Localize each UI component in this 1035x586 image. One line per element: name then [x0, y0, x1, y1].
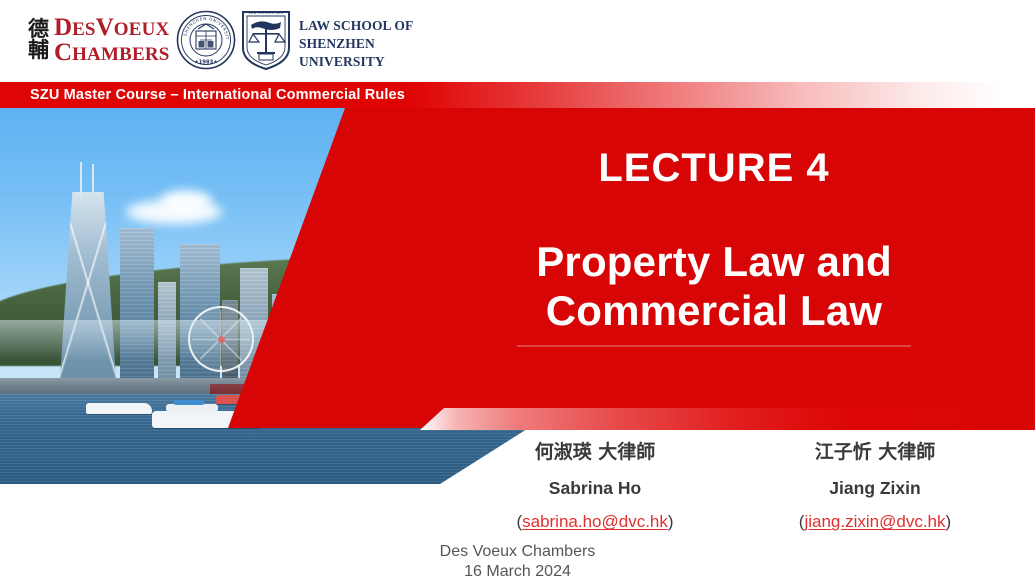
footer-organization: Des Voeux Chambers	[0, 542, 1035, 562]
title-underline	[517, 345, 911, 347]
dvc-wordmark-line1: DESVOEUX	[54, 15, 170, 40]
law-school-shield-icon: LAW SCHOOL SZU	[240, 8, 292, 72]
dvc-chinese-top: 德	[28, 19, 49, 40]
lecture-number: LECTURE 4	[430, 146, 998, 190]
presenter-2-email-link[interactable]: jiang.zixin@dvc.hk	[804, 512, 945, 531]
presenter-1: 何淑瑛 大律師 Sabrina Ho (sabrina.ho@dvc.hk)	[455, 440, 735, 533]
presenter-2-name-chinese: 江子忻 大律師	[735, 440, 1015, 466]
dvc-chinese-bottom: 輔	[28, 40, 49, 61]
paren-close: )	[946, 512, 952, 531]
red-gradient-bar	[420, 408, 1035, 430]
title-block: LECTURE 4 Property Law and Commercial La…	[430, 146, 998, 347]
law-school-line2: SHENZHEN	[299, 35, 413, 53]
tower-mast	[92, 164, 94, 194]
footer-date: 16 March 2024	[0, 562, 1035, 582]
lecture-title: Property Law and Commercial Law	[430, 238, 998, 335]
presenter-2-name-english: Jiang Zixin	[735, 477, 1015, 500]
presenter-2: 江子忻 大律師 Jiang Zixin (jiang.zixin@dvc.hk)	[735, 440, 1015, 533]
presenter-2-email-wrapper: (jiang.zixin@dvc.hk)	[735, 511, 1015, 533]
presentation-slide: 德 輔 DESVOEUX CHAMBERS ★1983★	[0, 0, 1035, 586]
svg-text:LAW SCHOOL SZU: LAW SCHOOL SZU	[249, 11, 284, 15]
law-school-name-label: LAW SCHOOL OF SHENZHEN UNIVERSITY	[299, 17, 413, 70]
presenter-1-name-chinese: 何淑瑛 大律師	[455, 440, 735, 466]
cloud	[160, 190, 212, 212]
course-banner: SZU Master Course – International Commer…	[0, 82, 1035, 108]
course-banner-label: SZU Master Course – International Commer…	[30, 87, 405, 103]
hero-area: LECTURE 4 Property Law and Commercial La…	[0, 108, 1035, 586]
dvc-chinese-characters: 德 輔	[28, 19, 49, 62]
presenter-1-email-wrapper: (sabrina.ho@dvc.hk)	[455, 511, 735, 533]
presenter-1-name-english: Sabrina Ho	[455, 477, 735, 500]
lecture-title-line2: Commercial Law	[430, 287, 998, 336]
slide-footer: Des Voeux Chambers 16 March 2024	[0, 542, 1035, 583]
des-voeux-chambers-logo: 德 輔 DESVOEUX CHAMBERS	[28, 12, 170, 68]
boat	[86, 403, 152, 414]
tower-mast	[80, 162, 82, 198]
paren-close: )	[668, 512, 674, 531]
dvc-wordmark: DESVOEUX CHAMBERS	[54, 15, 170, 65]
presenter-1-email-link[interactable]: sabrina.ho@dvc.hk	[522, 512, 668, 531]
header-logo-strip: 德 輔 DESVOEUX CHAMBERS ★1983★	[0, 0, 1035, 82]
law-school-line3: UNIVERSITY	[299, 53, 413, 71]
svg-text:★1983★: ★1983★	[194, 60, 218, 66]
lecture-title-line1: Property Law and	[430, 238, 998, 287]
shenzhen-university-seal-icon: ★1983★ SHENZHEN UNIVERSITY	[176, 10, 236, 70]
law-school-line1: LAW SCHOOL OF	[299, 17, 413, 35]
dvc-wordmark-line2: CHAMBERS	[54, 40, 170, 65]
presenter-list: 何淑瑛 大律師 Sabrina Ho (sabrina.ho@dvc.hk) 江…	[455, 440, 1015, 533]
